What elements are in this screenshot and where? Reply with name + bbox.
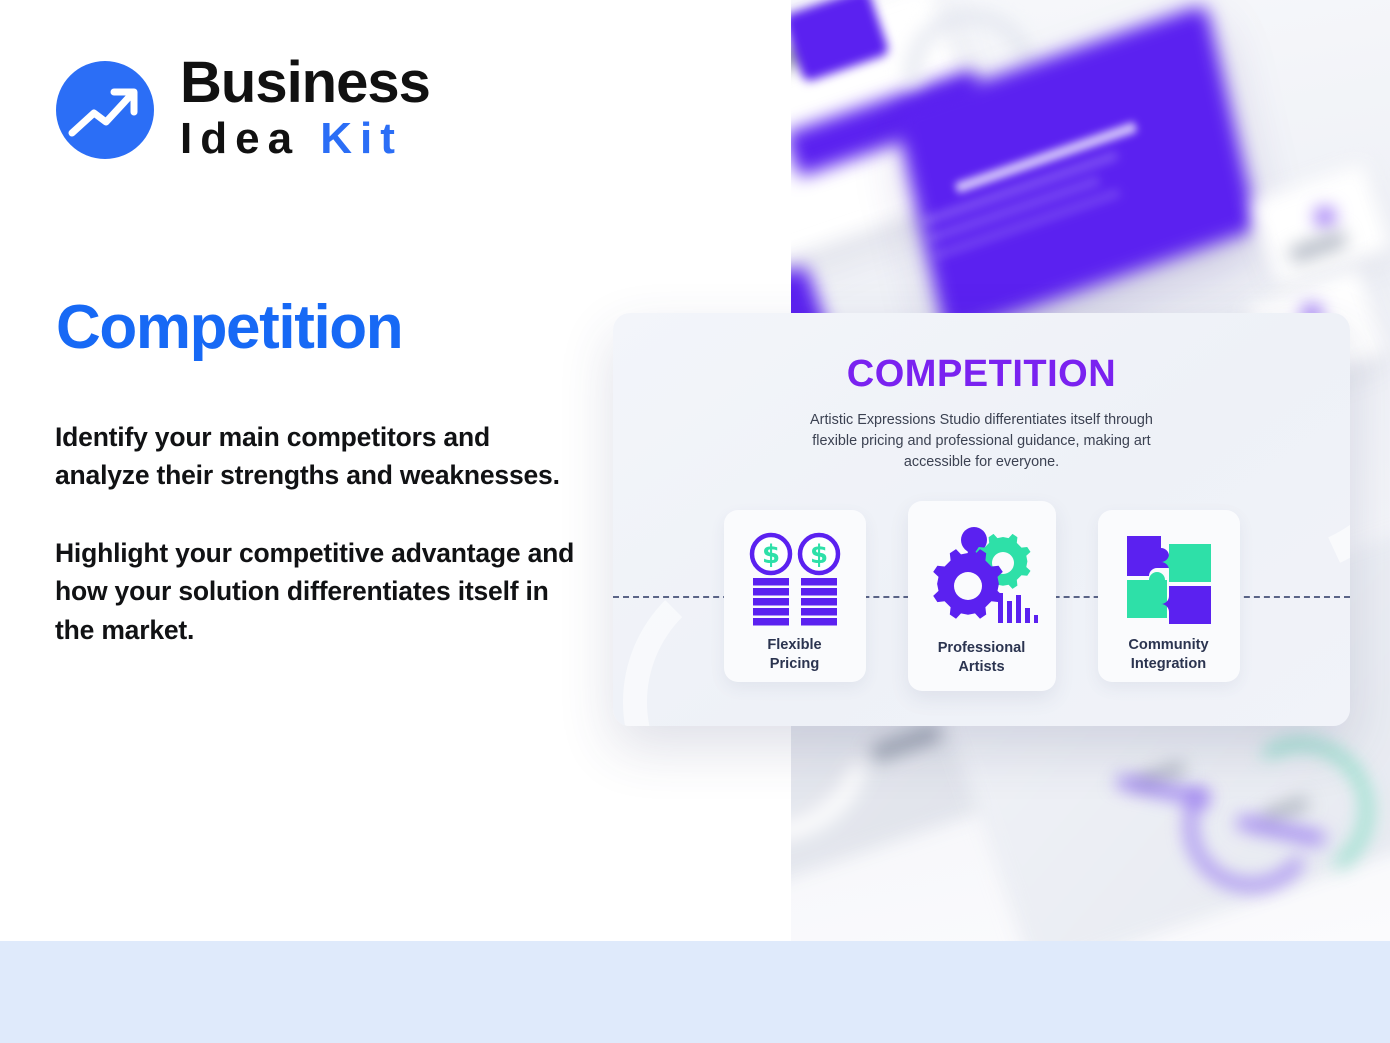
body-paragraph-1: Identify your main competitors and analy… [55,418,575,495]
page-title: Competition [56,297,402,359]
footer-bar [0,941,1390,1043]
tile-label-flexible-pricing: Flexible Pricing [767,636,821,674]
svg-text:$: $ [761,540,779,570]
tile-label-line2: Pricing [770,656,819,672]
gears-lightbulb-chart-icon [926,517,1038,637]
tile-community-integration[interactable]: Community Integration [1098,510,1240,682]
tile-label-line2: Artists [958,659,1004,675]
brand-name-secondary: Idea Kit [180,114,430,165]
tile-label-professional-artists: Professional Artists [938,639,1026,677]
svg-text:$: $ [809,540,827,570]
card-subtitle: Artistic Expressions Studio differentiat… [792,410,1172,473]
body-paragraph-2: Highlight your competitive advantage and… [55,534,575,649]
brand-kit-text: Kit [320,114,403,163]
bg-dot-1 [1316,208,1334,226]
brand-idea-text: Idea [180,114,320,163]
card-title: COMPETITION [613,353,1350,396]
tile-flexible-pricing[interactable]: $ $ [724,510,866,682]
competition-preview-card: COMPETITION Artistic Expressions Studio … [613,313,1350,726]
tile-label-line1: Flexible [767,637,821,653]
brand-logo: Business Idea Kit [56,55,430,165]
tile-label-line2: Integration [1131,656,1206,672]
coin-stacks-dollar-icon: $ $ [745,526,845,634]
trending-up-chart-icon [56,61,154,159]
body-copy: Identify your main competitors and analy… [55,418,575,649]
bg-chip-card-1 [1250,163,1390,287]
tile-professional-artists[interactable]: Professional Artists [908,501,1056,691]
competition-tiles-row: $ $ [613,499,1350,694]
tile-label-line1: Professional [938,640,1026,656]
puzzle-pieces-icon [1123,526,1215,634]
tile-label-community-integration: Community Integration [1128,636,1208,674]
brand-name-primary: Business [180,55,430,110]
tile-label-line1: Community [1128,637,1208,653]
